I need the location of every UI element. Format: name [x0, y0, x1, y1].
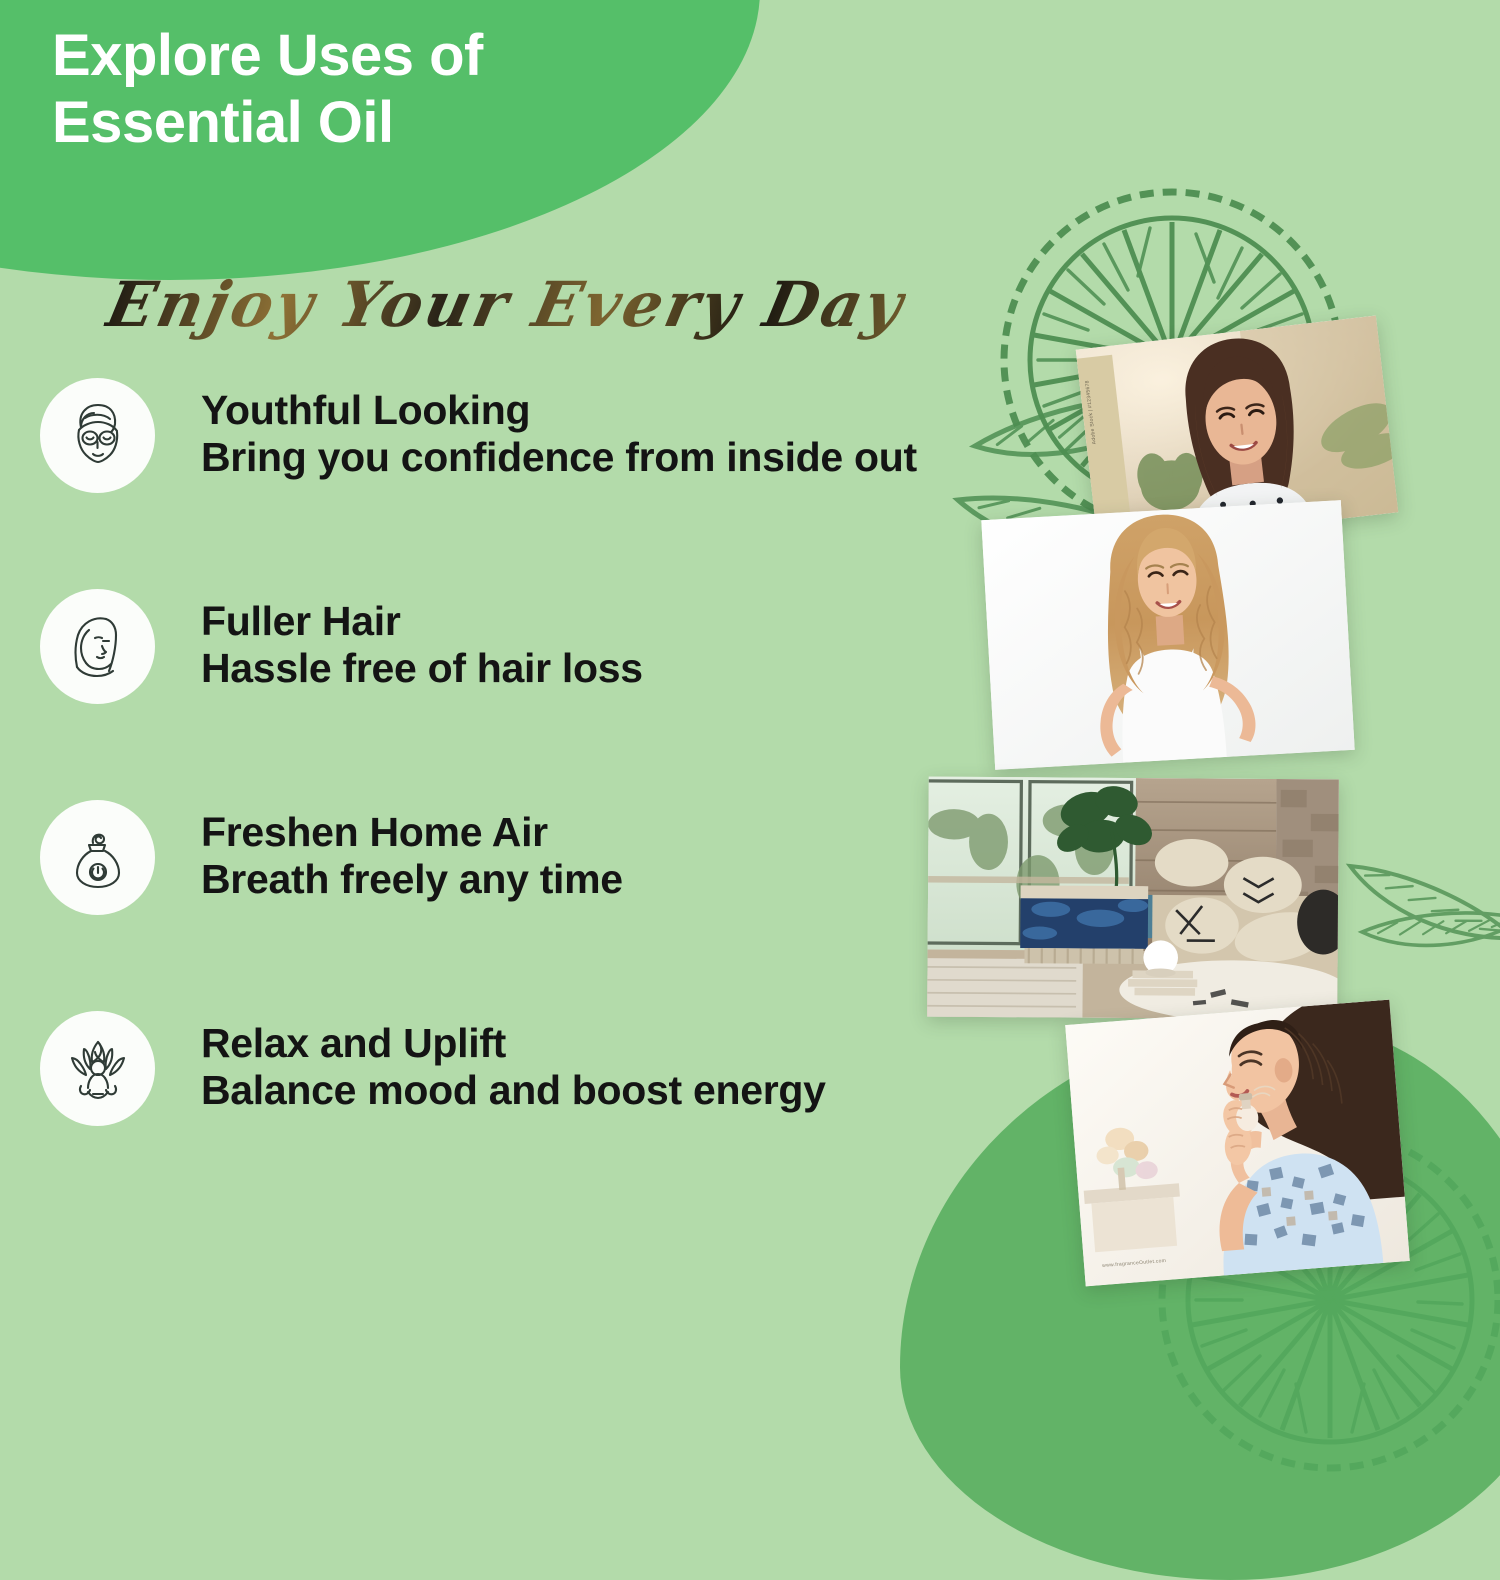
feature-title: Freshen Home Air	[201, 810, 623, 856]
feature-text-block: Fuller Hair Hassle free of hair loss	[201, 589, 643, 692]
feature-list: Youthful Looking Bring you confidence fr…	[40, 378, 1050, 1126]
feature-subtitle: Hassle free of hair loss	[201, 645, 643, 693]
tagline: Enjoy Your Every Day	[100, 268, 912, 341]
lotus-meditation-icon	[40, 1011, 155, 1126]
feature-item-relax-and-uplift[interactable]: Relax and Uplift Balance mood and boost …	[40, 1011, 1050, 1126]
feature-title: Relax and Uplift	[201, 1021, 826, 1067]
photo-blonde-wavy-hair[interactable]	[981, 500, 1354, 770]
face-mask-icon	[40, 378, 155, 493]
aroma-diffuser-icon	[40, 800, 155, 915]
aloe-leaves-right-decoration	[1341, 856, 1500, 955]
feature-title: Youthful Looking	[201, 388, 917, 434]
feature-subtitle: Bring you confidence from inside out	[201, 434, 917, 482]
feature-item-youthful-looking[interactable]: Youthful Looking Bring you confidence fr…	[40, 378, 1050, 493]
feature-text-block: Freshen Home Air Breath freely any time	[201, 800, 623, 903]
feature-subtitle: Balance mood and boost energy	[201, 1067, 826, 1115]
feature-title: Fuller Hair	[201, 599, 643, 645]
feature-subtitle: Breath freely any time	[201, 856, 623, 904]
page-title: Explore Uses of Essential Oil	[52, 22, 483, 157]
long-hair-profile-icon	[40, 589, 155, 704]
feature-text-block: Youthful Looking Bring you confidence fr…	[201, 378, 917, 481]
feature-item-freshen-home-air[interactable]: Freshen Home Air Breath freely any time	[40, 800, 1050, 915]
feature-text-block: Relax and Uplift Balance mood and boost …	[201, 1011, 826, 1114]
feature-item-fuller-hair[interactable]: Fuller Hair Hassle free of hair loss	[40, 589, 1050, 704]
photo-living-room-diffuser[interactable]	[927, 777, 1339, 1020]
photo-woman-applying-fragrance[interactable]: www.fragranceOutlet.com	[1065, 1000, 1410, 1287]
